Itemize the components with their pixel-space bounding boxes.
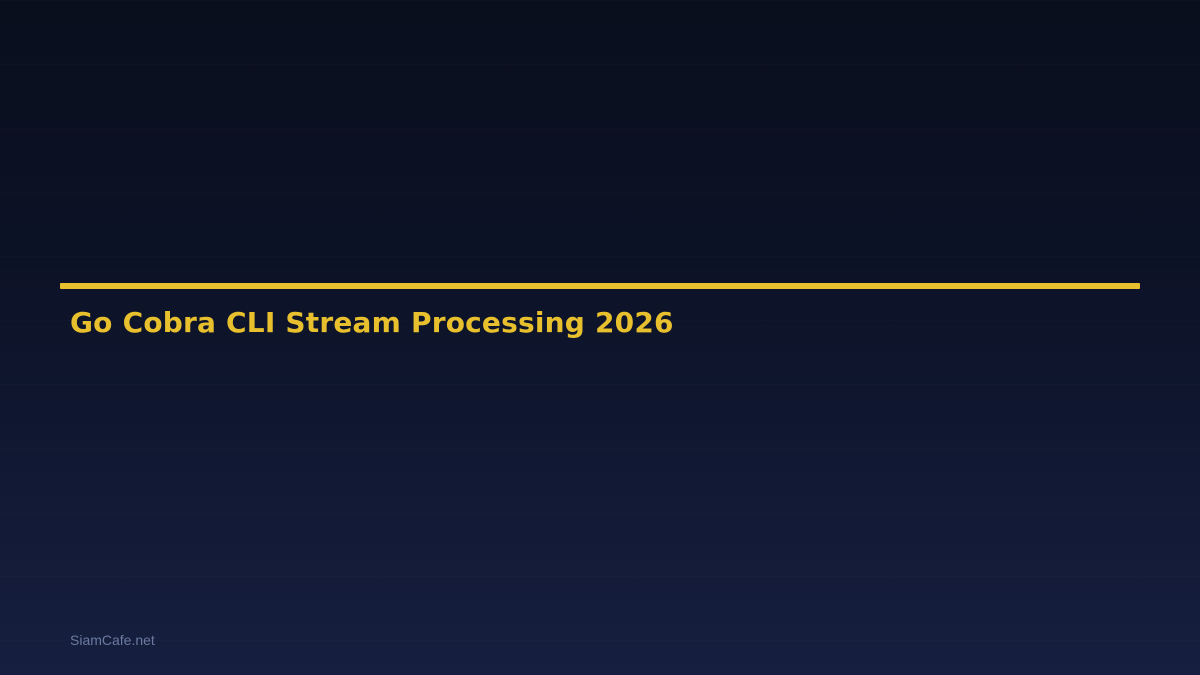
slide-canvas: Go Cobra CLI Stream Processing 2026 Siam… (0, 0, 1200, 675)
title-accent-rule (60, 283, 1140, 289)
footer-attribution: SiamCafe.net (70, 631, 155, 649)
page-title: Go Cobra CLI Stream Processing 2026 (70, 305, 674, 341)
